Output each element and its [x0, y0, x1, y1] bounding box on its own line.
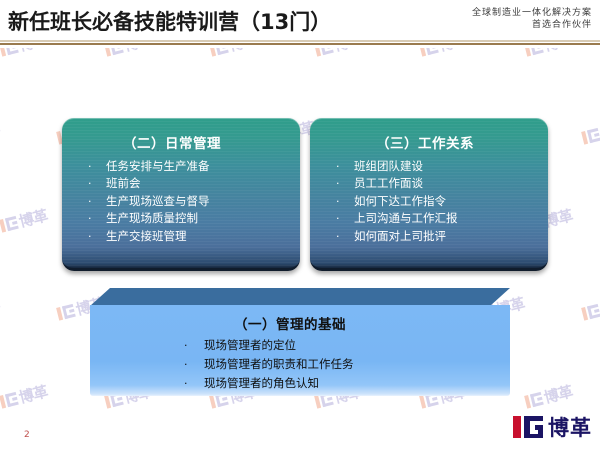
list-item-label: 班组团队建设 — [354, 159, 423, 173]
bullet-icon: · — [184, 374, 188, 393]
watermark-mark-icon — [0, 48, 19, 58]
list-item-label: 生产交接班管理 — [106, 229, 187, 243]
header-divider-dark — [0, 43, 600, 45]
watermark-mark-icon — [56, 303, 76, 322]
list-item: ·班组团队建设 — [332, 158, 548, 175]
company-slogan: 全球制造业一体化解决方案 首选合作伙伴 — [472, 7, 592, 31]
list-item-label: 现场管理者的角色认知 — [204, 376, 319, 390]
list-item: ·现场管理者的职责和工作任务 — [182, 355, 510, 374]
watermark-logo: 博革 — [0, 205, 50, 237]
bullet-icon: · — [336, 158, 340, 175]
card-management-foundation-body: （一）管理的基础 ·现场管理者的定位 ·现场管理者的职责和工作任务 ·现场管理者… — [90, 305, 510, 396]
watermark-text: 博革 — [542, 48, 575, 55]
card-daily-management-list: ·任务安排与生产准备 ·班前会 ·生产现场巡查与督导 ·生产现场质量控制 ·生产… — [62, 158, 300, 245]
watermark-text: 博革 — [542, 382, 575, 406]
card-daily-management[interactable]: （二）日常管理 ·任务安排与生产准备 ·班前会 ·生产现场巡查与督导 ·生产现场… — [62, 118, 300, 271]
watermark-mark-icon — [419, 48, 439, 58]
list-item-label: 生产现场质量控制 — [106, 211, 198, 225]
watermark-logo: 博革 — [418, 48, 470, 60]
watermark-logo: 博革 — [0, 293, 2, 325]
bullet-icon: · — [336, 210, 340, 227]
watermark-logo: 博革 — [0, 48, 50, 60]
list-item-label: 任务安排与生产准备 — [106, 159, 210, 173]
card-management-foundation-heading: （一）管理的基础 — [90, 313, 510, 333]
watermark-logo: 博革 — [103, 48, 155, 60]
card-work-relations-heading: （三）工作关系 — [310, 132, 548, 152]
list-item: ·生产交接班管理 — [84, 228, 300, 245]
bullet-icon: · — [88, 193, 92, 210]
watermark-text: 博革 — [122, 48, 155, 55]
bullet-icon: · — [336, 193, 340, 210]
slogan-line-1: 全球制造业一体化解决方案 — [472, 7, 592, 19]
watermark-mark-icon — [0, 391, 19, 410]
watermark-text: 博革 — [332, 48, 365, 55]
list-item: ·生产现场质量控制 — [84, 210, 300, 227]
header-divider-light — [0, 40, 600, 42]
list-item-label: 如何下达工作指令 — [354, 194, 446, 208]
watermark-logo: 博革 — [523, 381, 575, 413]
watermark-logo: 博革 — [313, 48, 365, 60]
bullet-icon: · — [336, 175, 340, 192]
list-item-label: 班前会 — [106, 176, 141, 190]
bullet-icon: · — [88, 158, 92, 175]
card-work-relations[interactable]: （三）工作关系 ·班组团队建设 ·员工工作面谈 ·如何下达工作指令 ·上司沟通与… — [310, 118, 548, 271]
list-item: ·任务安排与生产准备 — [84, 158, 300, 175]
watermark-mark-icon — [581, 127, 600, 146]
list-item-label: 如何面对上司批评 — [354, 229, 446, 243]
watermark-text: 博革 — [17, 382, 50, 406]
watermark-text: 博革 — [227, 48, 260, 55]
watermark-logo: 博革 — [523, 48, 575, 60]
watermark-text: 博革 — [0, 118, 2, 142]
bogo-logo-icon — [513, 416, 543, 438]
watermark-mark-icon — [524, 48, 544, 58]
slogan-line-2: 首选合作伙伴 — [472, 19, 592, 31]
bullet-icon: · — [184, 336, 188, 355]
watermark-logo: 博革 — [580, 117, 600, 149]
bullet-icon: · — [336, 228, 340, 245]
watermark-mark-icon — [524, 391, 544, 410]
card-management-foundation-list: ·现场管理者的定位 ·现场管理者的职责和工作任务 ·现场管理者的角色认知 — [90, 336, 510, 393]
list-item-label: 生产现场巡查与督导 — [106, 194, 210, 208]
list-item-label: 现场管理者的定位 — [204, 338, 296, 352]
list-item-label: 上司沟通与工作汇报 — [354, 211, 458, 225]
card-management-foundation[interactable]: （一）管理的基础 ·现场管理者的定位 ·现场管理者的职责和工作任务 ·现场管理者… — [90, 288, 510, 396]
page-number: 2 — [24, 430, 30, 440]
watermark-text: 博革 — [17, 48, 50, 55]
list-item-label: 员工工作面谈 — [354, 176, 423, 190]
card-daily-management-heading: （二）日常管理 — [62, 132, 300, 152]
watermark-logo: 博革 — [208, 48, 260, 60]
page-title: 新任班长必备技能特训营（13门） — [8, 6, 331, 36]
watermark-mark-icon — [104, 48, 124, 58]
company-logo-text: 博革 — [548, 412, 592, 442]
card-management-foundation-top-band — [90, 288, 510, 306]
watermark-logo: 博革 — [580, 293, 600, 325]
bullet-icon: · — [88, 175, 92, 192]
watermark-mark-icon — [209, 48, 229, 58]
watermark-mark-icon — [581, 303, 600, 322]
bullet-icon: · — [88, 228, 92, 245]
watermark-text: 博革 — [0, 294, 2, 318]
list-item: ·如何面对上司批评 — [332, 228, 548, 245]
list-item: ·生产现场巡查与督导 — [84, 193, 300, 210]
bullet-icon: · — [184, 355, 188, 374]
list-item: ·上司沟通与工作汇报 — [332, 210, 548, 227]
bullet-icon: · — [88, 210, 92, 227]
watermark-logo: 博革 — [0, 381, 50, 413]
watermark-text: 博革 — [437, 48, 470, 55]
list-item-label: 现场管理者的职责和工作任务 — [204, 357, 354, 371]
watermark-logo: 博革 — [0, 117, 2, 149]
slide-canvas: 博革博革博革博革博革博革博革博革博革博革博革博革博革博革博革博革博革博革博革博革… — [0, 0, 600, 450]
card-work-relations-list: ·班组团队建设 ·员工工作面谈 ·如何下达工作指令 ·上司沟通与工作汇报 ·如何… — [310, 158, 548, 245]
watermark-text: 博革 — [17, 206, 50, 230]
list-item: ·现场管理者的定位 — [182, 336, 510, 355]
watermark-mark-icon — [0, 215, 19, 234]
watermark-mark-icon — [314, 48, 334, 58]
list-item: ·现场管理者的角色认知 — [182, 374, 510, 393]
list-item: ·员工工作面谈 — [332, 175, 548, 192]
company-logo: 博革 — [513, 414, 592, 440]
list-item: ·如何下达工作指令 — [332, 193, 548, 210]
list-item: ·班前会 — [84, 175, 300, 192]
